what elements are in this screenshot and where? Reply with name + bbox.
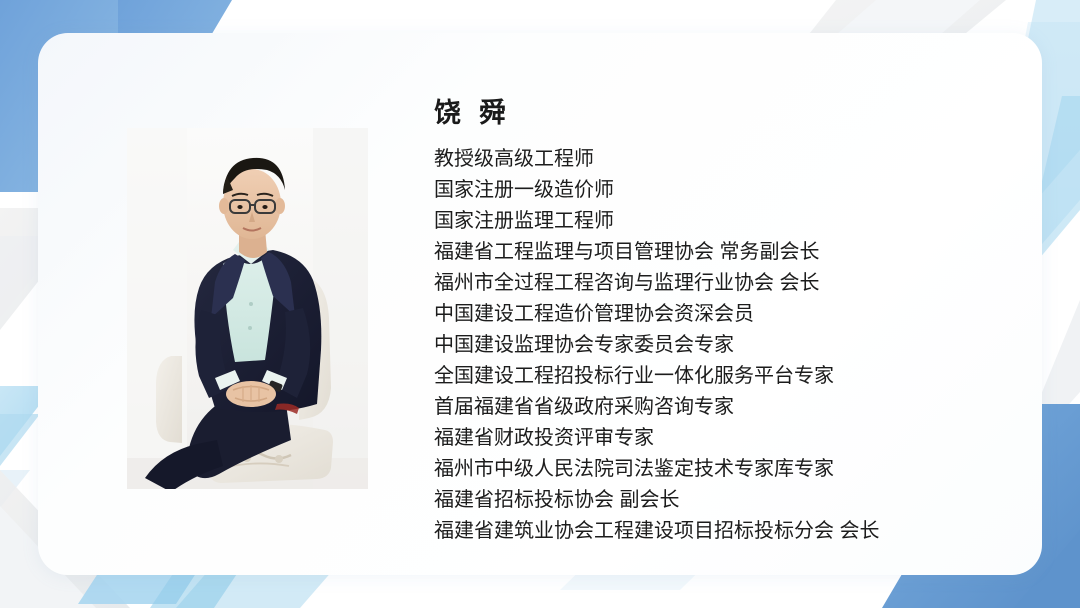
credential-item: 国家注册一级造价师 bbox=[434, 175, 994, 206]
profile-info-column: 饶 舜 教授级高级工程师 国家注册一级造价师 国家注册监理工程师 福建省工程监理… bbox=[434, 96, 994, 547]
credential-item: 福建省招标投标协会 副会长 bbox=[434, 485, 994, 516]
credential-item: 福建省建筑业协会工程建设项目招标投标分会 会长 bbox=[434, 516, 994, 547]
credential-item: 福建省财政投资评审专家 bbox=[434, 423, 994, 454]
person-name: 饶 舜 bbox=[434, 96, 994, 130]
profile-card-slide: 饶 舜 教授级高级工程师 国家注册一级造价师 国家注册监理工程师 福建省工程监理… bbox=[0, 0, 1080, 608]
credentials-list: 教授级高级工程师 国家注册一级造价师 国家注册监理工程师 福建省工程监理与项目管… bbox=[434, 144, 994, 547]
credential-item: 全国建设工程招投标行业一体化服务平台专家 bbox=[434, 361, 994, 392]
credential-item: 中国建设工程造价管理协会资深会员 bbox=[434, 299, 994, 330]
credential-item: 教授级高级工程师 bbox=[434, 144, 994, 175]
credential-item: 首届福建省省级政府采购咨询专家 bbox=[434, 392, 994, 423]
credential-item: 国家注册监理工程师 bbox=[434, 206, 994, 237]
credential-item: 福州市中级人民法院司法鉴定技术专家库专家 bbox=[434, 454, 994, 485]
portrait-photo bbox=[127, 128, 368, 489]
portrait-illustration bbox=[127, 128, 368, 489]
credential-item: 中国建设监理协会专家委员会专家 bbox=[434, 330, 994, 361]
credential-item: 福建省工程监理与项目管理协会 常务副会长 bbox=[434, 237, 994, 268]
credential-item: 福州市全过程工程咨询与监理行业协会 会长 bbox=[434, 268, 994, 299]
